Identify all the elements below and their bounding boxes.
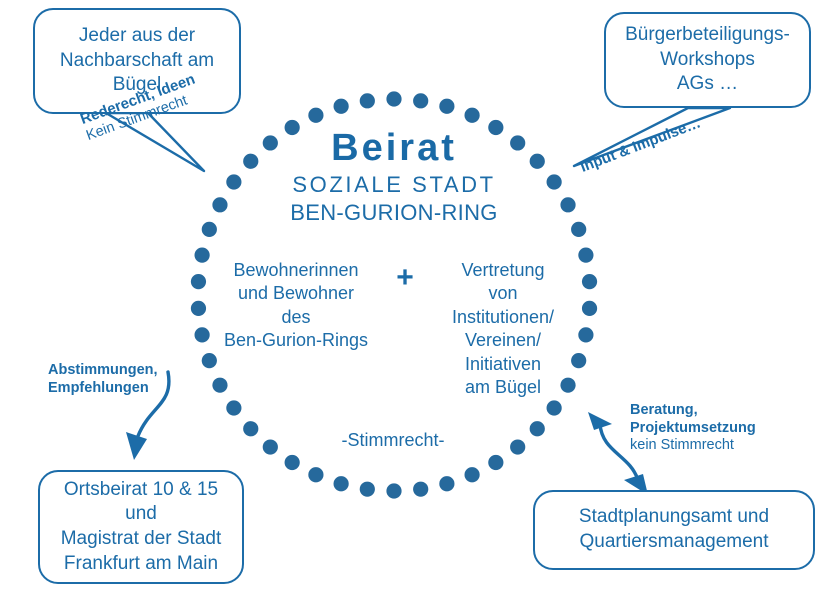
bubble-line: Frankfurt am Main	[50, 552, 232, 577]
bubble-neighbourhood-text: Jeder aus der Nachbarschaft am Bügel	[45, 24, 229, 98]
label-beratung-light: kein Stimmrecht	[630, 437, 756, 455]
ring-dot	[571, 222, 586, 237]
column-line: von	[428, 282, 578, 305]
ring-dot	[226, 174, 241, 189]
column-line: Vereinen/	[428, 329, 578, 352]
ring-dot	[488, 455, 503, 470]
label-abstimmungen-line: Abstimmungen,	[48, 362, 158, 380]
label-beratung-line: Beratung,	[630, 402, 756, 420]
ring-dot	[530, 421, 545, 436]
page-title: Beirat	[244, 128, 544, 169]
ring-dot	[510, 439, 525, 454]
ring-dot	[582, 301, 597, 316]
column-residents: Bewohnerinnen und Bewohner des Ben-Gurio…	[210, 259, 382, 353]
ring-dot	[582, 274, 597, 289]
ring-dot	[439, 476, 454, 491]
page-subtitle-1: SOZIALE STADT	[244, 171, 544, 200]
ring-dot	[212, 197, 227, 212]
label-abstimmungen-line: Empfehlungen	[48, 380, 158, 398]
ring-dot	[360, 482, 375, 497]
ring-dot	[386, 483, 401, 498]
ring-dot	[191, 301, 206, 316]
ring-dot	[464, 467, 479, 482]
bubble-line: Stadtplanungsamt und	[545, 505, 803, 530]
label-beratung-line: Projektumsetzung	[630, 420, 756, 438]
bubble-workshops[interactable]: Bürgerbeteiligungs- Workshops AGs …	[604, 12, 811, 108]
ring-dot	[243, 421, 258, 436]
center-columns: Bewohnerinnen und Bewohner des Ben-Gurio…	[206, 259, 582, 399]
label-input-strong: Input & Impulse…	[578, 114, 703, 176]
voting-rights-note: -Stimmrecht-	[283, 430, 503, 451]
column-line: des	[210, 306, 382, 329]
label-input: Input & Impulse…	[578, 114, 703, 176]
column-line: Initiativen	[428, 353, 578, 376]
bubble-workshops-text: Bürgerbeteiligungs- Workshops AGs …	[616, 23, 799, 97]
bubble-line: Workshops	[616, 48, 799, 73]
column-institutions: Vertretung von Institutionen/ Vereinen/ …	[428, 259, 578, 399]
bubble-line: Jeder aus der	[45, 24, 229, 49]
ring-dot	[308, 467, 323, 482]
bubble-line: AGs …	[616, 72, 799, 97]
ring-dot	[285, 455, 300, 470]
ring-dot	[191, 274, 206, 289]
ring-dot	[263, 439, 278, 454]
label-beratung: Beratung, Projektumsetzung kein Stimmrec…	[630, 402, 756, 455]
column-line: Institutionen/	[428, 306, 578, 329]
ring-dot	[334, 476, 349, 491]
column-line: am Bügel	[428, 376, 578, 399]
bubble-line: und	[50, 502, 232, 527]
bubble-line: Ortsbeirat 10 & 15	[50, 478, 232, 503]
bubble-line: Nachbarschaft am	[45, 49, 229, 74]
ring-dot	[334, 99, 349, 114]
center-title-block: Beirat SOZIALE STADT BEN-GURION-RING	[244, 128, 544, 226]
ring-dot	[547, 400, 562, 415]
column-line: Bewohnerinnen	[210, 259, 382, 282]
ring-dot	[439, 99, 454, 114]
ring-dot	[413, 93, 428, 108]
bubble-line: Quartiersmanagement	[545, 530, 803, 555]
bubble-stadtplanung[interactable]: Stadtplanungsamt und Quartiersmanagement	[533, 490, 815, 570]
ring-dot	[560, 197, 575, 212]
bubble-ortsbeirat[interactable]: Ortsbeirat 10 & 15 und Magistrat der Sta…	[38, 470, 244, 584]
ring-dot	[386, 91, 401, 106]
ring-dot	[308, 108, 323, 123]
bubble-stadtplanung-text: Stadtplanungsamt und Quartiersmanagement	[545, 505, 803, 554]
bubble-line: Bürgerbeteiligungs-	[616, 23, 799, 48]
plus-icon: +	[382, 259, 428, 294]
label-abstimmungen: Abstimmungen, Empfehlungen	[48, 362, 158, 397]
column-line: Vertretung	[428, 259, 578, 282]
column-line: und Bewohner	[210, 282, 382, 305]
ring-dot	[413, 482, 428, 497]
column-line: Ben-Gurion-Rings	[210, 329, 382, 352]
ring-dot	[202, 222, 217, 237]
page-subtitle-2: BEN-GURION-RING	[244, 200, 544, 227]
ring-dot	[226, 400, 241, 415]
ring-dot	[464, 108, 479, 123]
ring-dot	[360, 93, 375, 108]
diagram-canvas: Jeder aus der Nachbarschaft am Bügel Bür…	[0, 0, 820, 600]
bubble-ortsbeirat-text: Ortsbeirat 10 & 15 und Magistrat der Sta…	[50, 478, 232, 577]
ring-dot	[547, 174, 562, 189]
bubble-line: Magistrat der Stadt	[50, 527, 232, 552]
